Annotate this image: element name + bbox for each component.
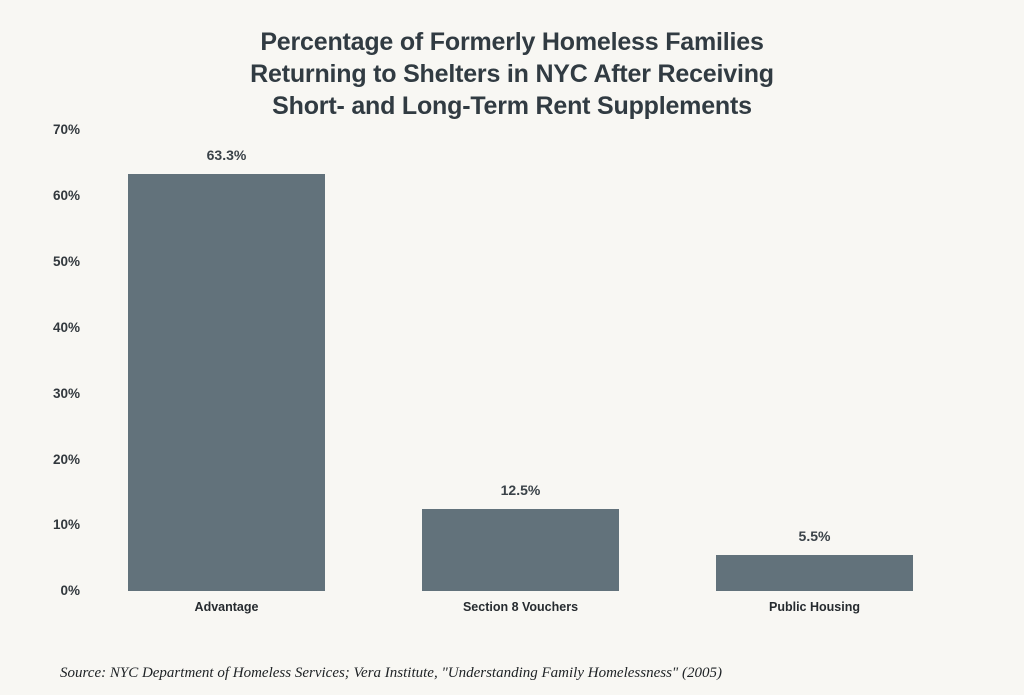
- plot-area: 70% 60% 50% 40% 30% 20% 10% 0% 63.3% Adv…: [0, 0, 1024, 695]
- bar-public-housing: [716, 555, 913, 591]
- bar-section-8-vouchers: [422, 509, 619, 591]
- source-note: Source: NYC Department of Homeless Servi…: [60, 664, 722, 683]
- category-label-public-housing: Public Housing: [716, 600, 913, 614]
- y-axis-tick-0: 0%: [20, 584, 80, 598]
- chart-container: Percentage of Formerly Homeless Families…: [0, 0, 1024, 695]
- y-axis-tick-10: 10%: [20, 518, 80, 532]
- bar-advantage: [128, 174, 325, 591]
- y-axis-tick-40: 40%: [20, 321, 80, 335]
- y-axis-tick-50: 50%: [20, 255, 80, 269]
- bar-value-public-housing: 5.5%: [716, 528, 913, 544]
- y-axis-tick-60: 60%: [20, 189, 80, 203]
- y-axis-tick-30: 30%: [20, 387, 80, 401]
- bar-value-advantage: 63.3%: [128, 147, 325, 163]
- category-label-advantage: Advantage: [128, 600, 325, 614]
- bar-value-section-8-vouchers: 12.5%: [422, 482, 619, 498]
- y-axis-tick-70: 70%: [20, 123, 80, 137]
- y-axis-tick-20: 20%: [20, 453, 80, 467]
- category-label-section-8-vouchers: Section 8 Vouchers: [422, 600, 619, 614]
